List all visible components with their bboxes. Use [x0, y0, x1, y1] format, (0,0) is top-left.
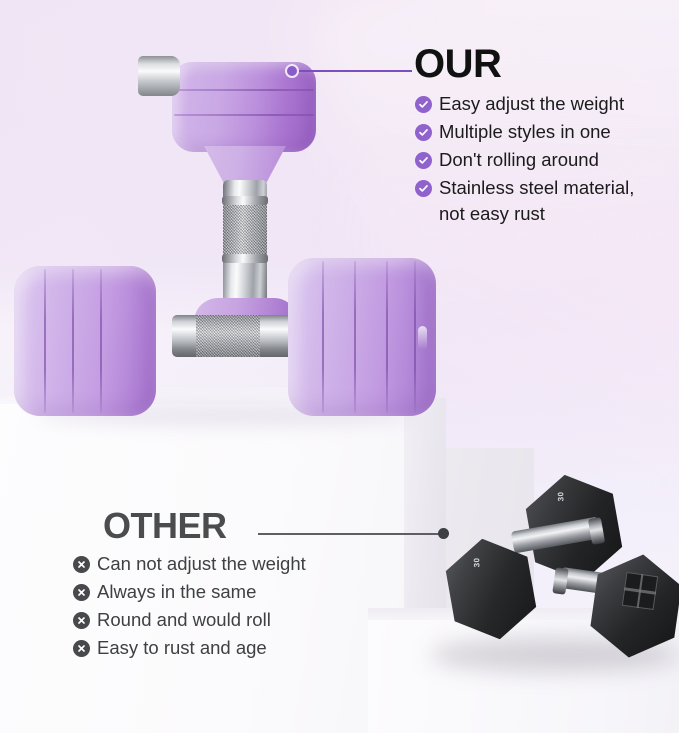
plate-groove	[174, 114, 314, 116]
plate-groove	[72, 269, 74, 413]
check-circle-icon	[415, 152, 432, 169]
list-item-label: Don't rolling around	[439, 147, 599, 173]
callout-line-our	[290, 70, 412, 72]
list-item: Stainless steel material, not easy rust	[415, 175, 679, 227]
purple-plate-block-left	[14, 266, 156, 416]
cross-circle-icon	[73, 584, 90, 601]
hex-weight-label: 30	[472, 557, 481, 567]
comparison-infographic: 30 30 OUR Easy adjust the weight Multipl…	[0, 0, 679, 733]
plate-release-slot	[418, 326, 427, 350]
other-features-panel: OTHER Can not adjust the weight Always i…	[73, 508, 403, 663]
cross-circle-icon	[73, 556, 90, 573]
list-item-label: Can not adjust the weight	[97, 551, 306, 577]
list-item: Easy to rust and age	[73, 635, 403, 661]
plate-groove	[174, 89, 314, 91]
our-heading: OUR	[414, 44, 679, 84]
list-item-label-multiline: Stainless steel material, not easy rust	[439, 175, 634, 227]
list-item: Don't rolling around	[415, 147, 679, 173]
chrome-collar	[222, 254, 268, 263]
callout-dot-our	[285, 64, 299, 78]
purple-dumbbell-lying-left-head	[8, 262, 198, 422]
plate-groove	[414, 261, 416, 413]
plate-groove	[386, 261, 388, 413]
hex-weight-label: 30	[556, 491, 565, 501]
cross-circle-icon	[73, 612, 90, 629]
hex-dumbbell-collar	[552, 567, 568, 595]
plate-groove	[100, 269, 102, 413]
list-item-label-line1: Stainless steel material,	[439, 175, 634, 201]
list-item: Always in the same	[73, 579, 403, 605]
list-item-label: Round and would roll	[97, 607, 271, 633]
our-feature-list: Easy adjust the weight Multiple styles i…	[415, 91, 679, 227]
knurled-grip-texture-horizontal	[196, 315, 260, 357]
other-feature-list: Can not adjust the weight Always in the …	[73, 551, 403, 661]
other-heading: OTHER	[103, 508, 403, 544]
list-item-label: Easy to rust and age	[97, 635, 267, 661]
callout-dot-other	[438, 528, 449, 539]
list-item: Easy adjust the weight	[415, 91, 679, 117]
list-item-label: Always in the same	[97, 579, 256, 605]
list-item: Can not adjust the weight	[73, 551, 403, 577]
check-circle-icon	[415, 96, 432, 113]
plate-groove	[44, 269, 46, 413]
chrome-collar-left	[138, 56, 180, 96]
list-item-label: Easy adjust the weight	[439, 91, 624, 117]
check-circle-icon	[415, 124, 432, 141]
purple-plate-block-right	[288, 258, 436, 416]
plate-groove	[354, 261, 356, 413]
chrome-collar	[222, 196, 268, 205]
list-item: Multiple styles in one	[415, 119, 679, 145]
our-features-panel: OUR Easy adjust the weight Multiple styl…	[415, 44, 679, 229]
hex-dumbbell-end-face	[622, 572, 658, 610]
plate-groove	[322, 261, 324, 413]
list-item: Round and would roll	[73, 607, 403, 633]
black-hex-dumbbell-pair: 30 30	[438, 468, 679, 668]
list-item-label-line2: not easy rust	[439, 201, 634, 227]
check-circle-icon	[415, 180, 432, 197]
cross-circle-icon	[73, 640, 90, 657]
knurled-grip-texture	[223, 204, 267, 258]
list-item-label: Multiple styles in one	[439, 119, 611, 145]
